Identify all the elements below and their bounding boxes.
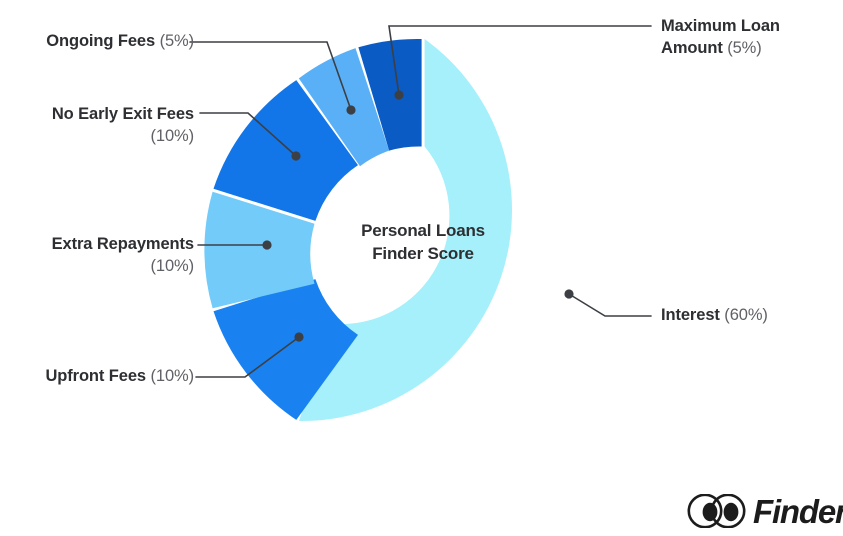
dot-ongoing-fees [346,105,355,114]
label-no-early-exit-fees[interactable]: No Early Exit Fees (10%) [10,103,194,147]
dot-maximum-loan-amount [394,90,403,99]
label-ongoing-fees-pct: (5%) [160,32,194,50]
center-label-line2: Finder Score [318,242,528,265]
label-interest-name: Interest [661,306,720,324]
label-maximum-loan-amount-name-line1: Maximum Loan [661,17,780,35]
donut-center-label: Personal Loans Finder Score [318,219,528,265]
finder-wordmark: Finder [753,495,843,528]
dot-no-early-exit-fees [291,151,300,160]
label-upfront-fees-pct: (10%) [150,367,194,385]
label-upfront-fees[interactable]: Upfront Fees (10%) [8,365,194,387]
dot-interest [564,289,573,298]
dot-extra-repayments [262,240,271,249]
label-no-early-exit-fees-name: No Early Exit Fees [52,105,194,123]
label-interest[interactable]: Interest (60%) [661,304,836,326]
label-interest-pct: (60%) [724,306,768,324]
dot-upfront-fees [294,332,303,341]
label-maximum-loan-amount[interactable]: Maximum Loan Amount (5%) [661,15,836,59]
label-extra-repayments[interactable]: Extra Repayments (10%) [8,233,194,277]
finder-eyes-icon [686,494,748,528]
label-ongoing-fees[interactable]: Ongoing Fees (5%) [18,30,194,52]
finder-logo: Finder [686,494,843,528]
leader-interest [569,294,651,316]
label-maximum-loan-amount-pct: (5%) [727,39,761,57]
label-extra-repayments-pct: (10%) [150,257,194,275]
label-upfront-fees-name: Upfront Fees [45,367,146,385]
label-maximum-loan-amount-name-line2: Amount [661,39,723,57]
center-label-line1: Personal Loans [318,219,528,242]
label-no-early-exit-fees-pct: (10%) [150,127,194,145]
label-extra-repayments-name: Extra Repayments [52,235,194,253]
chart-page: Personal Loans Finder Score Ongoing Fees… [0,0,843,536]
label-ongoing-fees-name: Ongoing Fees [46,32,155,50]
